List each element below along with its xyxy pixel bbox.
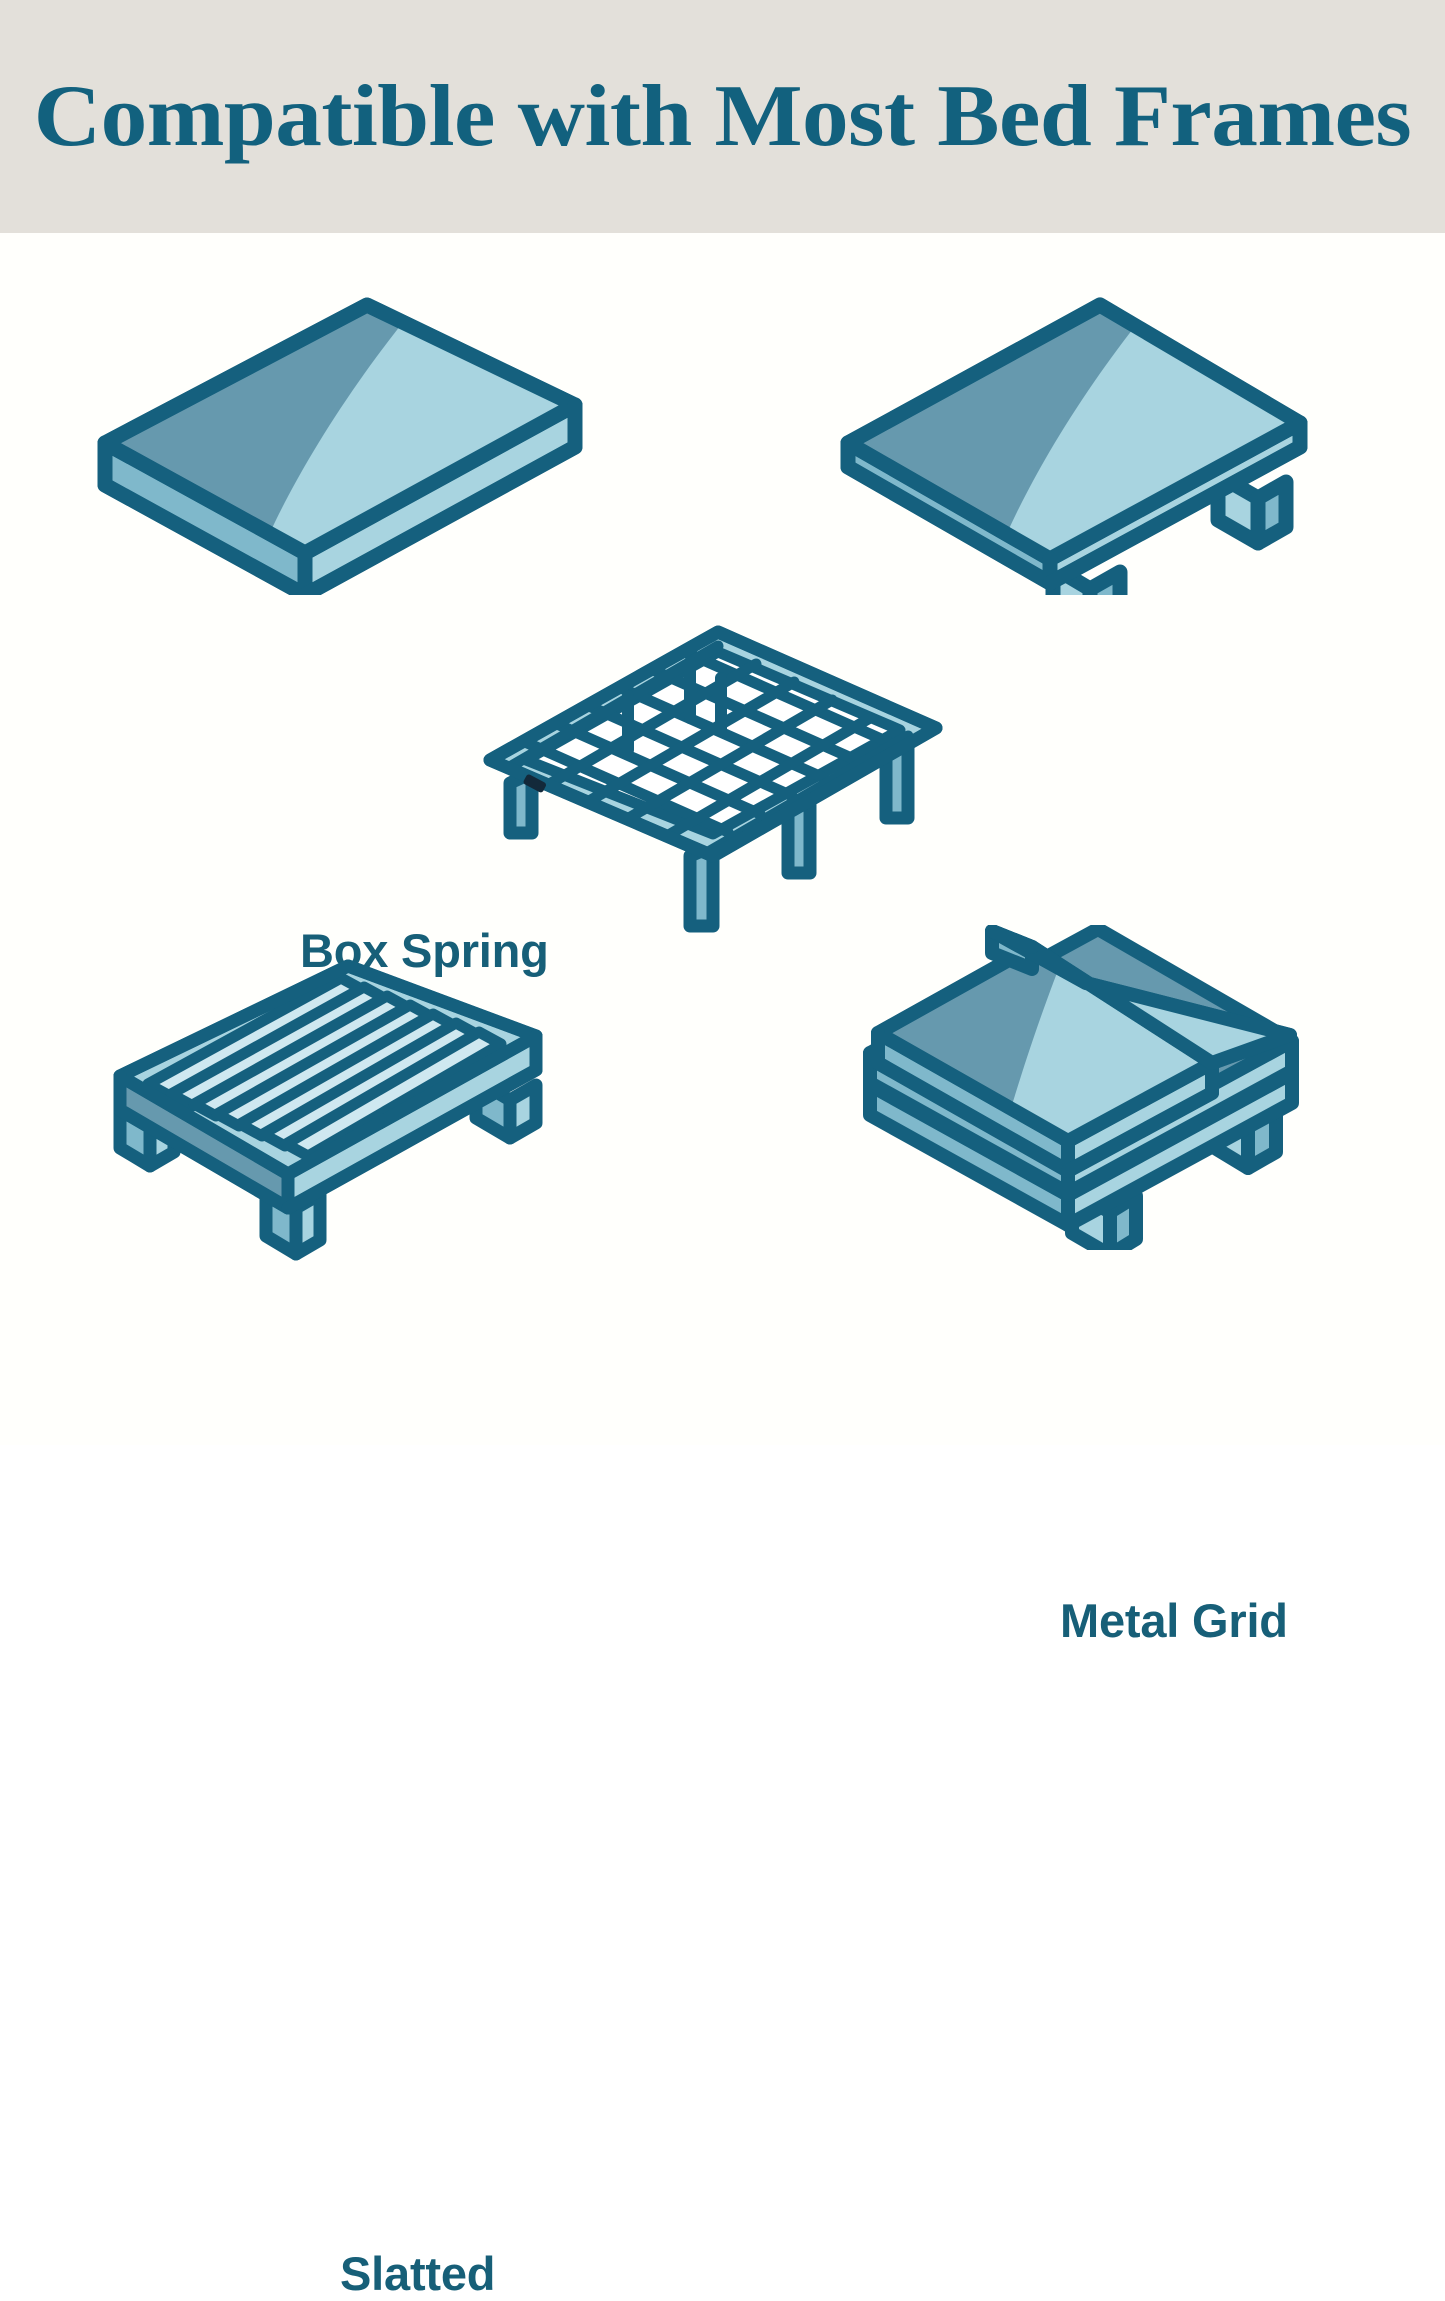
item-adjustable-base: Adjustable Base	[840, 925, 1330, 1250]
infographic-canvas: Compatible with Most Bed Frames	[0, 0, 1445, 1445]
slatted-icon	[98, 958, 568, 1263]
box-spring-icon	[95, 295, 585, 595]
item-box-spring: Box Spring	[95, 295, 585, 595]
item-platform: Platform	[838, 295, 1338, 595]
platform-icon	[838, 295, 1338, 595]
item-label-metal-grid: Metal Grid	[1060, 1593, 1288, 1648]
adjustable-base-icon	[840, 925, 1330, 1250]
page-title: Compatible with Most Bed Frames	[0, 0, 1445, 233]
item-label-slatted: Slatted	[340, 2246, 495, 2301]
item-metal-grid: Metal Grid	[468, 618, 958, 938]
metal-grid-icon	[468, 618, 958, 938]
item-slatted: Slatted	[98, 958, 568, 1263]
